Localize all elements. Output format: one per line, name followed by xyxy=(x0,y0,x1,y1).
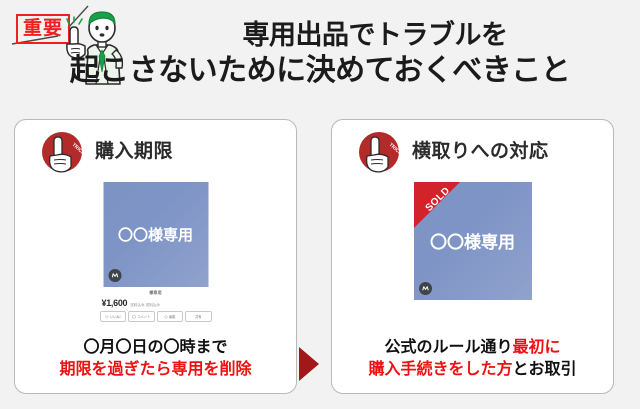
caption-right-seg-3: 購入手続きをした方 xyxy=(368,361,512,378)
panel-header-left: TRICK 購入期限 xyxy=(15,120,296,170)
panel-snatching-response: TRICK 横取りへの対応 SOLD 〇〇様専用 xyxy=(331,119,614,394)
badge-glyph xyxy=(110,271,119,280)
caption-right-seg-2: 最初に xyxy=(513,339,561,356)
mercari-logo-badge-left xyxy=(108,269,121,282)
trick-pointing-hand-icon: TRICK xyxy=(39,129,85,175)
listing-price: ¥1,600 xyxy=(102,298,128,308)
caption-left-line-1: 〇月〇日の〇時まで xyxy=(15,337,296,359)
product-label-right: 〇〇様専用 xyxy=(414,228,532,253)
caption-right: 公式のルール通り最初に 購入手続きをした方とお取引 xyxy=(332,337,613,381)
listing-item-title: 様専用 xyxy=(100,290,212,296)
listing-shipping: 送料込み 送料込み xyxy=(130,303,160,308)
mercari-logo-badge-right xyxy=(419,282,432,295)
caption-right-seg-1: 公式のルール通り xyxy=(384,339,512,356)
caption-right-line-2: 購入手続きをした方とお取引 xyxy=(332,359,613,381)
title-line-2: 起こさないために決めておくべきこと xyxy=(0,52,640,90)
right-arrow xyxy=(299,347,319,381)
main-title: 専用出品でトラブルを 起こさないために決めておくべきこと xyxy=(0,18,640,90)
title-line-1: 専用出品でトラブルを xyxy=(0,18,640,52)
product-image-right: SOLD 〇〇様専用 xyxy=(414,182,532,300)
trick-pointing-hand-icon: TRICK xyxy=(356,129,402,175)
like-button-label: いいね! xyxy=(110,314,120,319)
listing-action-buttons: いいね! コメント 編集 共有 xyxy=(100,311,212,322)
caption-left: 〇月〇日の〇時まで 期限を過ぎたら専用を削除 xyxy=(15,337,296,381)
caption-left-line-2: 期限を過ぎたら専用を削除 xyxy=(15,359,296,381)
caption-right-seg-4: とお取引 xyxy=(513,361,577,378)
header: 重要 専用出品でトラブルを xyxy=(0,0,640,115)
edit-icon xyxy=(164,315,168,319)
panel-title-left: 購入期限 xyxy=(95,136,173,163)
panel-title-right: 横取りへの対応 xyxy=(412,136,549,163)
share-button-label: 共有 xyxy=(195,314,201,319)
heart-icon xyxy=(105,315,109,319)
badge-glyph xyxy=(421,284,430,293)
panel-header-right: TRICK 横取りへの対応 xyxy=(332,120,613,170)
panel-purchase-deadline: TRICK 購入期限 〇〇様専用 様専用 ¥1,600 xyxy=(14,119,297,394)
share-button[interactable]: 共有 xyxy=(185,311,212,322)
listing-price-row: ¥1,600 送料込み 送料込み xyxy=(100,298,212,308)
edit-button-label: 編集 xyxy=(169,314,175,319)
product-label-left: 〇〇様専用 xyxy=(103,224,208,245)
comment-icon xyxy=(132,315,136,319)
listing-meta: 様専用 ¥1,600 送料込み 送料込み いいね! コメント xyxy=(100,290,212,322)
comment-button[interactable]: コメント xyxy=(128,311,155,322)
caption-right-line-1: 公式のルール通り最初に xyxy=(332,337,613,359)
like-button[interactable]: いいね! xyxy=(100,311,127,322)
panels-container: TRICK 購入期限 〇〇様専用 様専用 ¥1,600 xyxy=(0,115,640,409)
comment-button-label: コメント xyxy=(137,314,150,319)
edit-button[interactable]: 編集 xyxy=(157,311,184,322)
product-image-left: 〇〇様専用 xyxy=(103,182,208,287)
